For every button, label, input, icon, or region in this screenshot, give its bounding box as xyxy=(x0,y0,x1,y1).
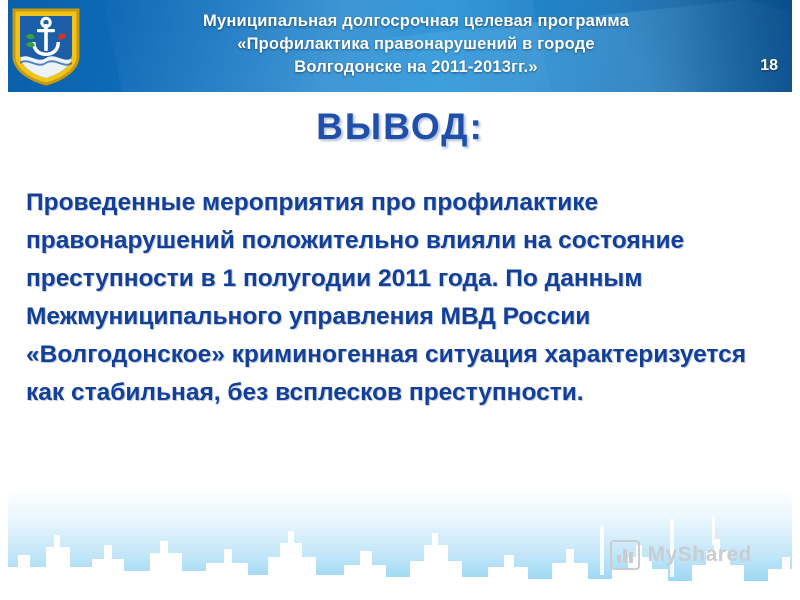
slide-number-badge: 18 xyxy=(760,57,778,75)
conclusion-text: Проведенные мероприятия про профилактике… xyxy=(26,184,782,412)
left-margin-strip xyxy=(0,0,8,600)
header-title-line-1: Муниципальная долгосрочная целевая прогр… xyxy=(96,10,736,33)
right-margin-strip xyxy=(792,0,800,600)
slide: Муниципальная долгосрочная целевая прогр… xyxy=(0,0,800,600)
bar-chart-icon xyxy=(610,540,640,570)
myshared-watermark: MyShared xyxy=(610,540,752,570)
header-title-line-3: Волгодонске на 2011-2013гг.» xyxy=(96,56,736,79)
conclusion-paragraph: Проведенные мероприятия про профилактике… xyxy=(26,184,782,412)
header-title: Муниципальная долгосрочная целевая прогр… xyxy=(96,10,736,79)
coat-of-arms-icon xyxy=(10,6,82,86)
slide-body: ВЫВОД: Проведенные мероприятия про профи… xyxy=(8,92,792,492)
watermark-label: MyShared xyxy=(648,543,752,567)
header-title-line-2: «Профилактика правонарушений в городе xyxy=(96,33,736,56)
page-title: ВЫВОД: xyxy=(8,106,792,148)
